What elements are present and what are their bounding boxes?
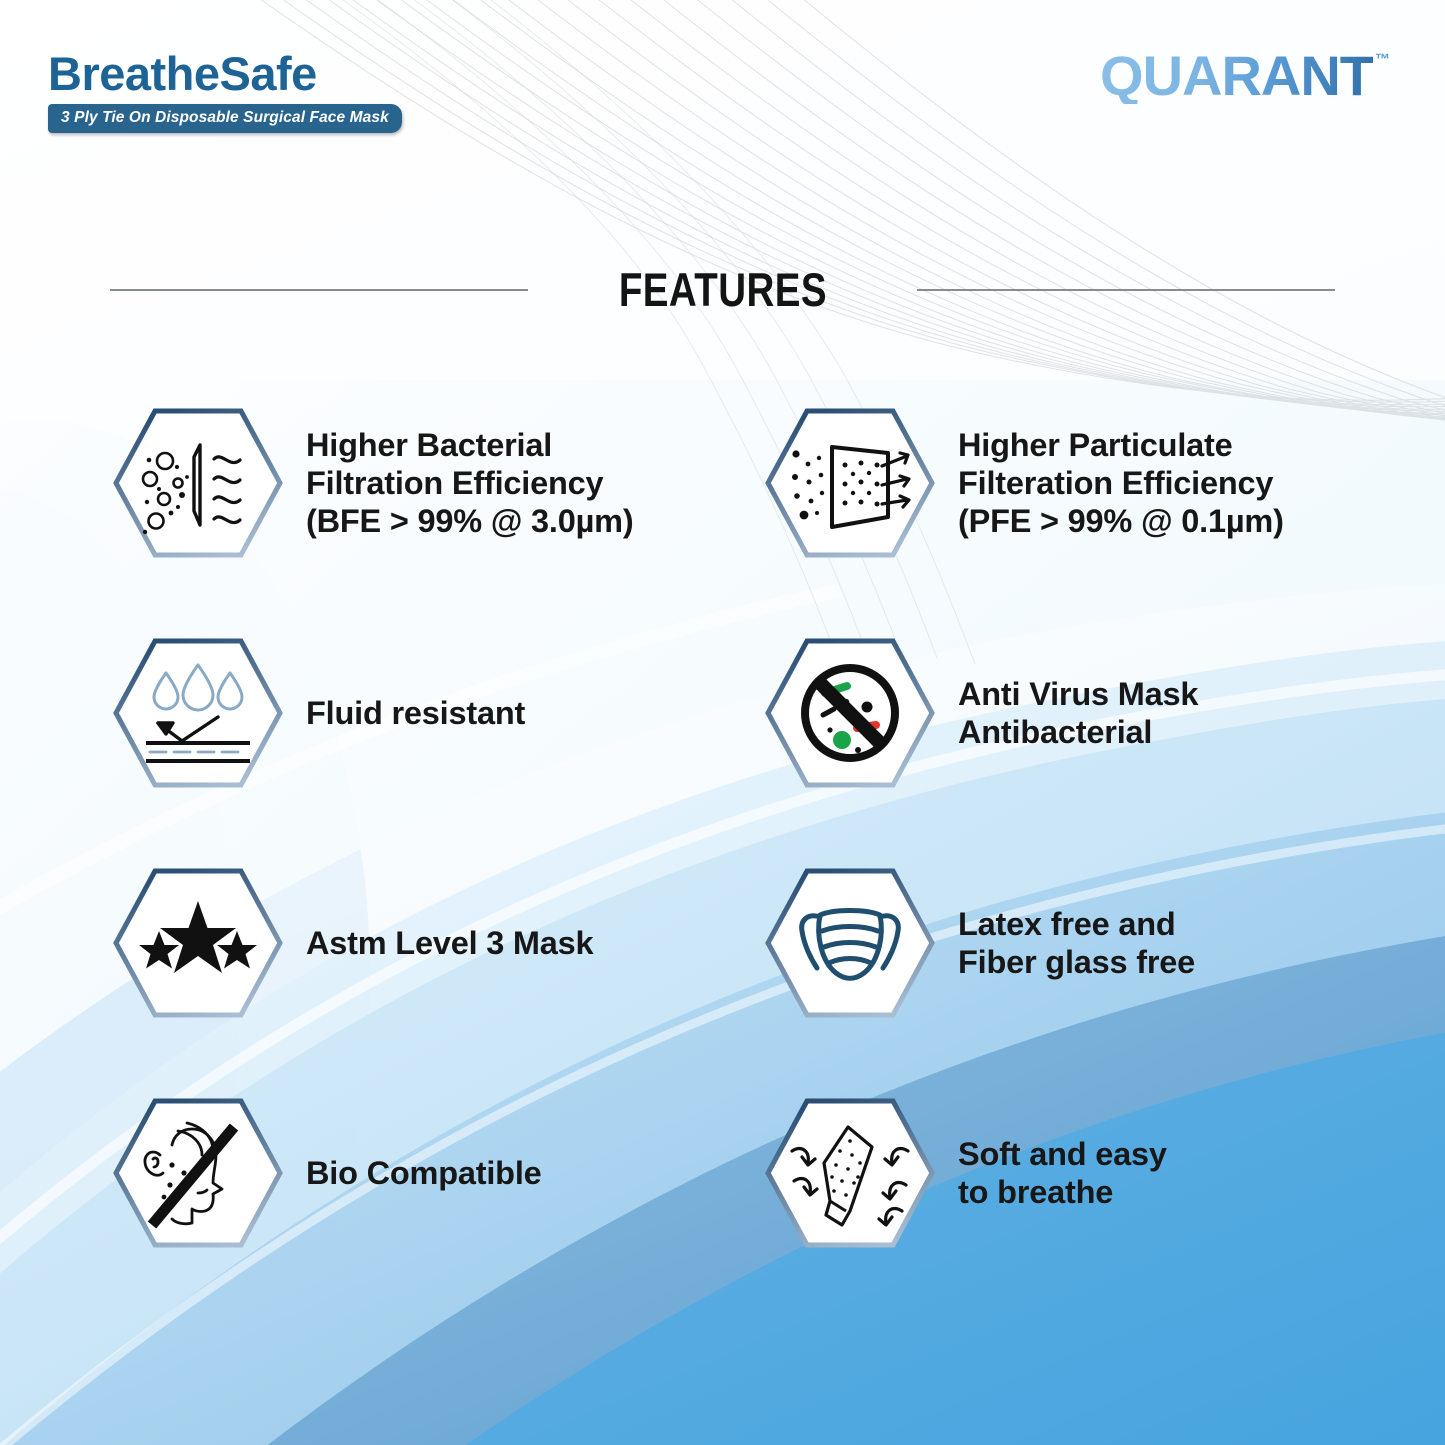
feature-label: Higher Bacterial Filtration Efficiency (… [306, 426, 633, 540]
brand-name-text: QUARANT [1100, 48, 1373, 104]
feature-item: Soft and easy to breathe [764, 1058, 1352, 1288]
anti-virus-icon [764, 633, 936, 793]
product-tagline-banner: 3 Ply Tie On Disposable Surgical Face Ma… [48, 104, 402, 133]
feature-label: Astm Level 3 Mask [306, 924, 593, 962]
bacterial-filtration-icon [112, 403, 284, 563]
feature-label: Soft and easy to breathe [958, 1135, 1167, 1211]
bio-compatible-face-icon [112, 1093, 284, 1253]
features-heading-row: FEATURES [110, 262, 1335, 317]
quarant-brand-logo: QUARANT ™ [1100, 48, 1390, 104]
fluid-resistant-icon [112, 633, 284, 793]
features-grid: Higher Bacterial Filtration Efficiency (… [112, 368, 1352, 1288]
page-title: FEATURES [618, 262, 826, 317]
heading-rule-right [917, 289, 1335, 291]
feature-label: Anti Virus Mask Antibacterial [958, 675, 1198, 751]
product-logo-text: BreatheSafe [48, 50, 402, 97]
surgical-mask-icon [764, 863, 936, 1023]
trademark-symbol: ™ [1375, 51, 1390, 68]
three-stars-icon [112, 863, 284, 1023]
feature-item: Latex free and Fiber glass free [764, 828, 1352, 1058]
feature-label: Fluid resistant [306, 694, 525, 732]
feature-item: Bio Compatible [112, 1058, 764, 1288]
feature-label: Bio Compatible [306, 1154, 542, 1192]
feature-item: Fluid resistant [112, 598, 764, 828]
feature-item: Anti Virus Mask Antibacterial [764, 598, 1352, 828]
feature-item: Higher Particulate Filteration Efficienc… [764, 368, 1352, 598]
page-header: BreatheSafe 3 Ply Tie On Disposable Surg… [0, 0, 1445, 190]
heading-rule-left [110, 289, 528, 291]
breathable-fabric-icon [764, 1093, 936, 1253]
particulate-filtration-icon [764, 403, 936, 563]
feature-item: Astm Level 3 Mask [112, 828, 764, 1058]
feature-label: Latex free and Fiber glass free [958, 905, 1195, 981]
feature-item: Higher Bacterial Filtration Efficiency (… [112, 368, 764, 598]
breathesafe-logo: BreatheSafe 3 Ply Tie On Disposable Surg… [48, 50, 402, 133]
feature-label: Higher Particulate Filteration Efficienc… [958, 426, 1284, 540]
